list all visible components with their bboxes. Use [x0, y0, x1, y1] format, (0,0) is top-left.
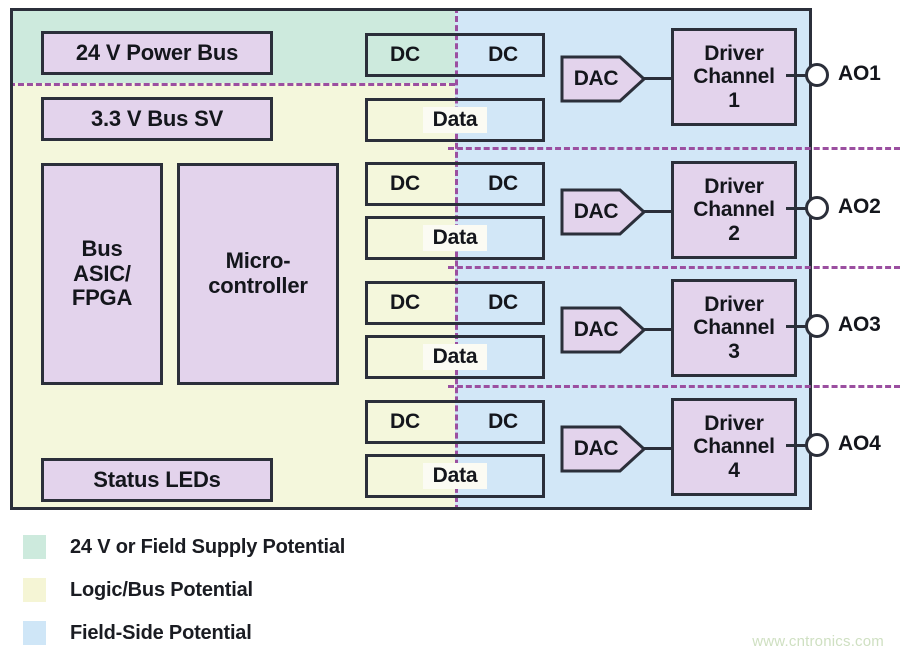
- driver-channel-3-line-2: Channel: [693, 316, 774, 340]
- dac-4[interactable]: DAC: [560, 425, 646, 473]
- driver-channel-4-line-3: 4: [728, 459, 739, 483]
- dcdc-isolator-4[interactable]: DC DC: [365, 400, 545, 444]
- legend-item-field-side: Field-Side Potential: [23, 621, 252, 645]
- driver-channel-4-line-1: Driver: [704, 412, 764, 436]
- driver-channel-3-line-3: 3: [728, 340, 739, 364]
- output-label-4: AO4: [838, 432, 881, 456]
- block-3v3-bus-sv-label: 3.3 V Bus SV: [91, 107, 223, 132]
- block-24v-power-bus[interactable]: 24 V Power Bus: [41, 31, 273, 75]
- output-terminal-3[interactable]: [805, 314, 829, 338]
- dac-1-lead: [644, 77, 674, 80]
- block-microcontroller-line-a: Micro-: [226, 249, 291, 274]
- output-label-1: AO1: [838, 62, 881, 86]
- driver-channel-2[interactable]: Driver Channel 2: [671, 161, 797, 259]
- module-panel: 24 V Power Bus 3.3 V Bus SV Bus ASIC/ FP…: [10, 8, 812, 510]
- output-terminal-4[interactable]: [805, 433, 829, 457]
- output-terminal-1[interactable]: [805, 63, 829, 87]
- block-diagram: 24 V Power Bus 3.3 V Bus SV Bus ASIC/ FP…: [0, 0, 900, 664]
- legend-item-logic-bus: Logic/Bus Potential: [23, 578, 253, 602]
- driver-channel-1-line-3: 1: [728, 89, 739, 113]
- legend-label-logic-bus: Logic/Bus Potential: [70, 579, 253, 602]
- block-microcontroller-line-b: controller: [208, 274, 307, 299]
- data-isolator-1-label: Data: [423, 107, 488, 134]
- output-label-2: AO2: [838, 195, 881, 219]
- output-label-3: AO3: [838, 313, 881, 337]
- block-status-leds-label: Status LEDs: [93, 468, 220, 493]
- watermark: www.cntronics.com: [752, 633, 884, 650]
- isolation-barrier-channel-2-3: [448, 266, 900, 269]
- dcdc-isolator-3[interactable]: DC DC: [365, 281, 545, 325]
- dac-3[interactable]: DAC: [560, 306, 646, 354]
- block-bus-asic-fpga-line-3: FPGA: [72, 286, 132, 311]
- driver-channel-1[interactable]: Driver Channel 1: [671, 28, 797, 126]
- isolation-barrier-supply-logic: [10, 83, 455, 86]
- legend-label-field-side: Field-Side Potential: [70, 622, 252, 645]
- driver-channel-4[interactable]: Driver Channel 4: [671, 398, 797, 496]
- dcdc-isolator-3-left-label: DC: [390, 291, 420, 315]
- block-microcontroller[interactable]: Micro- controller: [177, 163, 339, 385]
- dcdc-isolator-2-left-label: DC: [390, 172, 420, 196]
- block-status-leds[interactable]: Status LEDs: [41, 458, 273, 502]
- legend-item-field-supply: 24 V or Field Supply Potential: [23, 535, 345, 559]
- block-3v3-bus-sv[interactable]: 3.3 V Bus SV: [41, 97, 273, 141]
- dcdc-isolator-2-right-label: DC: [488, 172, 518, 196]
- dac-2-lead: [644, 210, 674, 213]
- block-bus-asic-fpga-line-1: Bus: [82, 237, 123, 262]
- dcdc-isolator-1[interactable]: DC DC: [365, 33, 545, 77]
- block-bus-asic-fpga[interactable]: Bus ASIC/ FPGA: [41, 163, 163, 385]
- driver-channel-1-line-1: Driver: [704, 42, 764, 66]
- driver-channel-2-line-3: 2: [728, 222, 739, 246]
- legend-swatch-field-side: [23, 621, 46, 645]
- dcdc-isolator-4-right-label: DC: [488, 410, 518, 434]
- dac-2-label: DAC: [560, 188, 632, 236]
- dac-2[interactable]: DAC: [560, 188, 646, 236]
- data-isolator-1[interactable]: Data: [365, 98, 545, 142]
- data-isolator-4[interactable]: Data: [365, 454, 545, 498]
- driver-channel-3-line-1: Driver: [704, 293, 764, 317]
- legend-swatch-field-supply: [23, 535, 46, 559]
- data-isolator-3[interactable]: Data: [365, 335, 545, 379]
- dac-1[interactable]: DAC: [560, 55, 646, 103]
- driver-channel-1-line-2: Channel: [693, 65, 774, 89]
- driver-channel-3[interactable]: Driver Channel 3: [671, 279, 797, 377]
- dac-1-label: DAC: [560, 55, 632, 103]
- data-isolator-2-label: Data: [423, 225, 488, 252]
- legend-label-field-supply: 24 V or Field Supply Potential: [70, 536, 345, 559]
- data-isolator-4-label: Data: [423, 463, 488, 490]
- dcdc-isolator-3-right-label: DC: [488, 291, 518, 315]
- driver-channel-4-line-2: Channel: [693, 435, 774, 459]
- driver-channel-2-line-1: Driver: [704, 175, 764, 199]
- isolation-barrier-channel-3-4: [448, 385, 900, 388]
- dcdc-isolator-1-right-label: DC: [488, 43, 518, 67]
- dcdc-isolator-2[interactable]: DC DC: [365, 162, 545, 206]
- dac-4-label: DAC: [560, 425, 632, 473]
- output-terminal-2[interactable]: [805, 196, 829, 220]
- dac-3-label: DAC: [560, 306, 632, 354]
- dcdc-isolator-4-left-label: DC: [390, 410, 420, 434]
- data-isolator-2[interactable]: Data: [365, 216, 545, 260]
- dac-3-lead: [644, 328, 674, 331]
- data-isolator-3-label: Data: [423, 344, 488, 371]
- isolation-barrier-channel-1-2: [448, 147, 900, 150]
- legend-swatch-logic-bus: [23, 578, 46, 602]
- dcdc-isolator-1-left-label: DC: [390, 43, 420, 67]
- block-24v-power-bus-label: 24 V Power Bus: [76, 41, 238, 66]
- driver-channel-2-line-2: Channel: [693, 198, 774, 222]
- dac-4-lead: [644, 447, 674, 450]
- block-bus-asic-fpga-line-2: ASIC/: [73, 262, 131, 287]
